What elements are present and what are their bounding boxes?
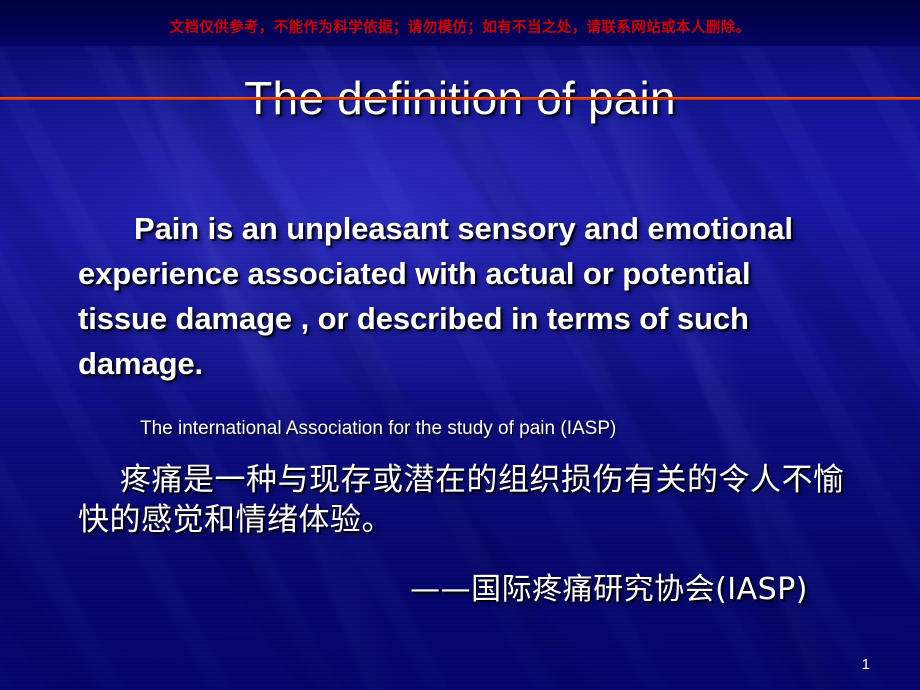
slide-content: 文档仅供参考，不能作为科学依据；请勿模仿；如有不当之处，请联系网站或本人删除。 … xyxy=(0,0,920,690)
chinese-source-line: ——国际疼痛研究协会(IASP) xyxy=(78,572,846,608)
chinese-definition-paragraph: 疼痛是一种与现存或潜在的组织损伤有关的令人不愉快的感觉和情绪体验。 xyxy=(78,460,846,542)
watermark-notice: 文档仅供参考，不能作为科学依据；请勿模仿；如有不当之处，请联系网站或本人删除。 xyxy=(0,21,920,36)
english-definition-paragraph: Pain is an unpleasant sensory and emotio… xyxy=(78,207,846,387)
page-number: 1 xyxy=(862,657,870,672)
english-source-line: The international Association for the st… xyxy=(78,418,846,441)
slide-body: Pain is an unpleasant sensory and emotio… xyxy=(78,176,846,638)
title-divider-rule xyxy=(0,97,920,100)
presentation-slide: 文档仅供参考，不能作为科学依据；请勿模仿；如有不当之处，请联系网站或本人删除。 … xyxy=(0,0,920,690)
